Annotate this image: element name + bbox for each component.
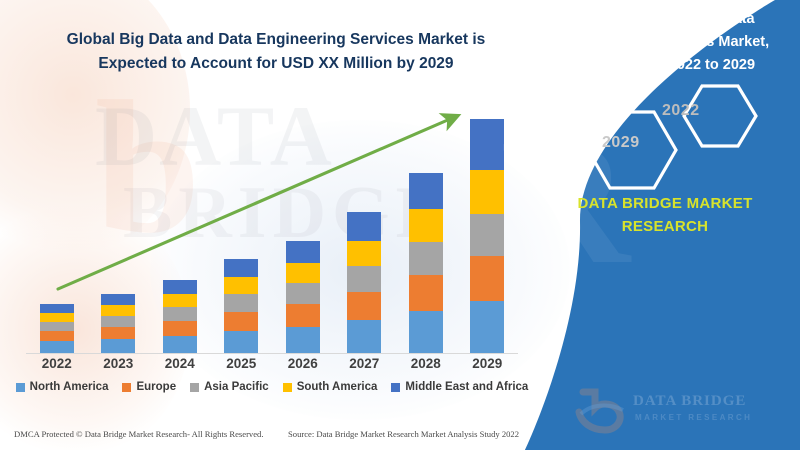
bar-segment xyxy=(286,327,320,353)
legend-swatch-icon xyxy=(190,383,199,392)
stacked-bar-chart xyxy=(12,96,532,354)
bar-segment xyxy=(163,336,197,353)
bar-segment xyxy=(101,339,135,353)
brand-name-line-2: RESEARCH xyxy=(540,215,790,238)
bar-column xyxy=(211,97,273,353)
chart-x-labels: 20222023202420252026202720282029 xyxy=(26,356,518,371)
bar-segment xyxy=(409,242,443,275)
footer-dmca-notice: DMCA Protected © Data Bridge Market Rese… xyxy=(14,429,264,439)
bar-stack-2022 xyxy=(40,304,74,353)
x-axis-label-2029: 2029 xyxy=(457,356,519,371)
bar-stack-2028 xyxy=(409,173,443,353)
hexagon-label-2029: 2029 xyxy=(602,134,640,152)
legend-swatch-icon xyxy=(16,383,25,392)
bar-segment xyxy=(224,259,258,277)
bar-column xyxy=(395,97,457,353)
bar-segment xyxy=(286,304,320,327)
legend-label: Middle East and Africa xyxy=(405,381,528,393)
legend-swatch-icon xyxy=(122,383,131,392)
bar-stack-2027 xyxy=(347,212,381,353)
bar-stack-2026 xyxy=(286,241,320,353)
hexagon-label-2022: 2022 xyxy=(662,102,700,120)
x-axis-label-2023: 2023 xyxy=(88,356,150,371)
legend-label: Europe xyxy=(136,381,176,393)
bar-column xyxy=(272,97,334,353)
bar-segment xyxy=(224,312,258,331)
hexagon-year-badges: 2029 2022 xyxy=(578,82,778,194)
bar-segment xyxy=(224,294,258,312)
x-axis-label-2024: 2024 xyxy=(149,356,211,371)
footer-source-note: Source: Data Bridge Market Research Mark… xyxy=(288,429,519,439)
bar-segment xyxy=(163,280,197,294)
bar-segment xyxy=(224,331,258,353)
bar-segment xyxy=(224,277,258,294)
brand-name: DATA BRIDGE MARKET RESEARCH xyxy=(540,192,790,239)
legend-item[interactable]: Middle East and Africa xyxy=(391,381,528,393)
logo-subtitle: MARKET RESEARCH xyxy=(635,413,752,422)
bar-segment xyxy=(40,322,74,331)
bar-segment xyxy=(286,283,320,304)
x-axis-label-2026: 2026 xyxy=(272,356,334,371)
right-panel-title-line-1: Global Big Data and Data xyxy=(546,8,790,31)
bridge-logo-icon xyxy=(575,388,631,434)
x-axis-label-2022: 2022 xyxy=(26,356,88,371)
bar-segment xyxy=(409,209,443,241)
bar-segment xyxy=(347,241,381,266)
bar-segment xyxy=(40,304,74,313)
bar-segment xyxy=(347,212,381,240)
bar-segment xyxy=(163,307,197,321)
bar-segment xyxy=(101,316,135,327)
right-panel-content: R Global Big Data and Data Engineering S… xyxy=(520,0,800,450)
bar-segment xyxy=(347,292,381,320)
bar-column xyxy=(26,97,88,353)
bar-stack-2024 xyxy=(163,280,197,353)
bar-segment xyxy=(101,305,135,316)
slide-root: b DATA BRIDGE Global Big Data and Data E… xyxy=(0,0,800,450)
bar-segment xyxy=(409,311,443,353)
bar-stack-2023 xyxy=(101,294,135,353)
x-axis-label-2028: 2028 xyxy=(395,356,457,371)
bar-segment xyxy=(101,294,135,305)
bar-stack-2025 xyxy=(224,259,258,353)
legend-item[interactable]: Europe xyxy=(122,381,176,393)
bar-segment xyxy=(470,301,504,353)
legend-swatch-icon xyxy=(391,383,400,392)
legend-label: North America xyxy=(30,381,109,393)
bar-segment xyxy=(347,266,381,292)
brand-name-line-1: DATA BRIDGE MARKET xyxy=(540,192,790,215)
bar-segment xyxy=(347,320,381,353)
x-axis-label-2025: 2025 xyxy=(211,356,273,371)
bar-segment xyxy=(163,321,197,336)
legend-label: Asia Pacific xyxy=(204,381,269,393)
bar-column xyxy=(149,97,211,353)
chart-bars xyxy=(26,97,518,353)
bar-segment xyxy=(163,294,197,307)
bar-segment xyxy=(101,327,135,339)
chart-legend: North AmericaEuropeAsia PacificSouth Ame… xyxy=(12,381,532,393)
bar-segment xyxy=(40,313,74,322)
bar-column xyxy=(334,97,396,353)
chart-x-axis xyxy=(26,353,518,354)
legend-item[interactable]: Asia Pacific xyxy=(190,381,269,393)
bar-segment xyxy=(286,263,320,283)
legend-item[interactable]: South America xyxy=(283,381,378,393)
bar-segment xyxy=(409,173,443,209)
page-title-line-1: Global Big Data and Data Engineering Ser… xyxy=(26,28,526,52)
right-panel-title: Global Big Data and Data Engineering Ser… xyxy=(546,8,790,78)
logo-wordmark: DATA BRIDGE xyxy=(633,393,746,410)
legend-item[interactable]: North America xyxy=(16,381,109,393)
page-title: Global Big Data and Data Engineering Ser… xyxy=(26,28,526,76)
right-panel-title-line-2: Engineering Services Market, xyxy=(546,31,790,54)
company-logo-watermark: DATA BRIDGE MARKET RESEARCH xyxy=(575,388,785,436)
page-title-line-2: Expected to Account for USD XX Million b… xyxy=(26,52,526,76)
bar-segment xyxy=(40,331,74,341)
bar-segment xyxy=(409,275,443,311)
legend-swatch-icon xyxy=(283,383,292,392)
bar-segment xyxy=(286,241,320,263)
right-panel-title-line-3: By Regions, 2022 to 2029 xyxy=(546,54,790,77)
bar-column xyxy=(88,97,150,353)
x-axis-label-2027: 2027 xyxy=(334,356,396,371)
legend-label: South America xyxy=(297,381,378,393)
bar-segment xyxy=(40,341,74,353)
